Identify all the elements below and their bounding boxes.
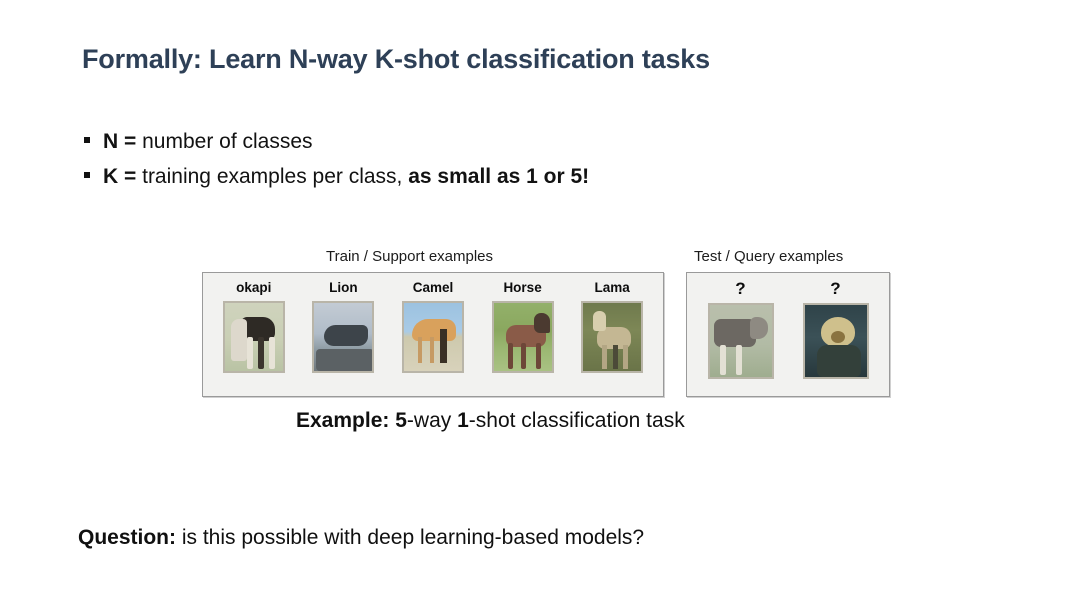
title-n-symbol: N bbox=[289, 44, 308, 74]
horse-photo bbox=[494, 303, 552, 371]
support-card-label: Camel bbox=[413, 280, 454, 296]
square-bullet-icon bbox=[84, 172, 90, 178]
question-lead: Question: bbox=[78, 526, 176, 549]
lama-legs-detail bbox=[601, 345, 631, 369]
page-title: Formally: Learn N-way K-shot classificat… bbox=[82, 44, 710, 75]
bullet-list: N = number of classes K = training examp… bbox=[84, 124, 589, 194]
example-mid: -way bbox=[407, 409, 457, 432]
title-suffix: -shot classification tasks bbox=[394, 44, 710, 74]
support-card-lama: Lama bbox=[577, 280, 647, 373]
example-k-value: 1 bbox=[457, 409, 469, 432]
query-card-label: ? bbox=[830, 280, 840, 298]
query-2-photo bbox=[805, 305, 867, 377]
bullet-text: N = number of classes bbox=[103, 124, 313, 159]
support-card-label: Lion bbox=[329, 280, 358, 296]
query-card-2: ? bbox=[796, 280, 876, 379]
bullet-lead: N = bbox=[103, 130, 142, 153]
bullet-lead: K = bbox=[103, 165, 142, 188]
example-lead: Example: bbox=[296, 409, 395, 432]
title-k-symbol: K bbox=[375, 44, 394, 74]
query-1-legs-detail bbox=[718, 345, 752, 375]
query-card-row: ? ? bbox=[687, 273, 889, 396]
bullet-rest: number of classes bbox=[142, 130, 312, 153]
support-panel-caption: Train / Support examples bbox=[326, 248, 493, 265]
support-examples-panel: okapi Lion Camel bbox=[202, 272, 664, 397]
query-panel-caption: Test / Query examples bbox=[694, 248, 843, 265]
example-tail: -shot classification task bbox=[469, 409, 685, 432]
query-examples-panel: ? ? bbox=[686, 272, 890, 397]
support-card-horse: Horse bbox=[488, 280, 558, 373]
query-card-label: ? bbox=[735, 280, 745, 298]
support-card-label: Horse bbox=[503, 280, 541, 296]
horse-legs-detail bbox=[508, 343, 546, 369]
title-prefix: Formally: Learn bbox=[82, 44, 289, 74]
lama-thumbnail bbox=[581, 301, 643, 373]
okapi-thumbnail bbox=[223, 301, 285, 373]
support-card-label: okapi bbox=[236, 280, 271, 296]
square-bullet-icon bbox=[84, 137, 90, 143]
example-caption: Example: 5-way 1-shot classification tas… bbox=[296, 409, 685, 433]
horse-thumbnail bbox=[492, 301, 554, 373]
support-card-camel: Camel bbox=[398, 280, 468, 373]
support-card-row: okapi Lion Camel bbox=[203, 273, 663, 396]
camel-legs-detail bbox=[416, 337, 450, 363]
okapi-photo bbox=[225, 303, 283, 371]
lama-photo bbox=[583, 303, 641, 371]
query-1-photo bbox=[710, 305, 772, 377]
list-item: N = number of classes bbox=[84, 124, 589, 159]
bullet-emphasis: as small as 1 or 5! bbox=[408, 165, 589, 188]
camel-thumbnail bbox=[402, 301, 464, 373]
support-card-label: Lama bbox=[595, 280, 630, 296]
okapi-legs-detail bbox=[245, 337, 279, 369]
bullet-text: K = training examples per class, as smal… bbox=[103, 159, 589, 194]
lion-photo bbox=[314, 303, 372, 371]
title-mid: -way bbox=[308, 44, 375, 74]
question-line: Question: is this possible with deep lea… bbox=[78, 526, 644, 550]
query-2-thumbnail bbox=[803, 303, 869, 379]
query-2-body-detail bbox=[817, 345, 861, 377]
support-card-lion: Lion bbox=[308, 280, 378, 373]
example-n-value: 5 bbox=[395, 409, 407, 432]
bullet-rest: training examples per class, bbox=[142, 165, 408, 188]
support-card-okapi: okapi bbox=[219, 280, 289, 373]
query-1-thumbnail bbox=[708, 303, 774, 379]
query-card-1: ? bbox=[701, 280, 781, 379]
lion-thumbnail bbox=[312, 301, 374, 373]
question-rest: is this possible with deep learning-base… bbox=[176, 526, 644, 549]
camel-photo bbox=[404, 303, 462, 371]
list-item: K = training examples per class, as smal… bbox=[84, 159, 589, 194]
